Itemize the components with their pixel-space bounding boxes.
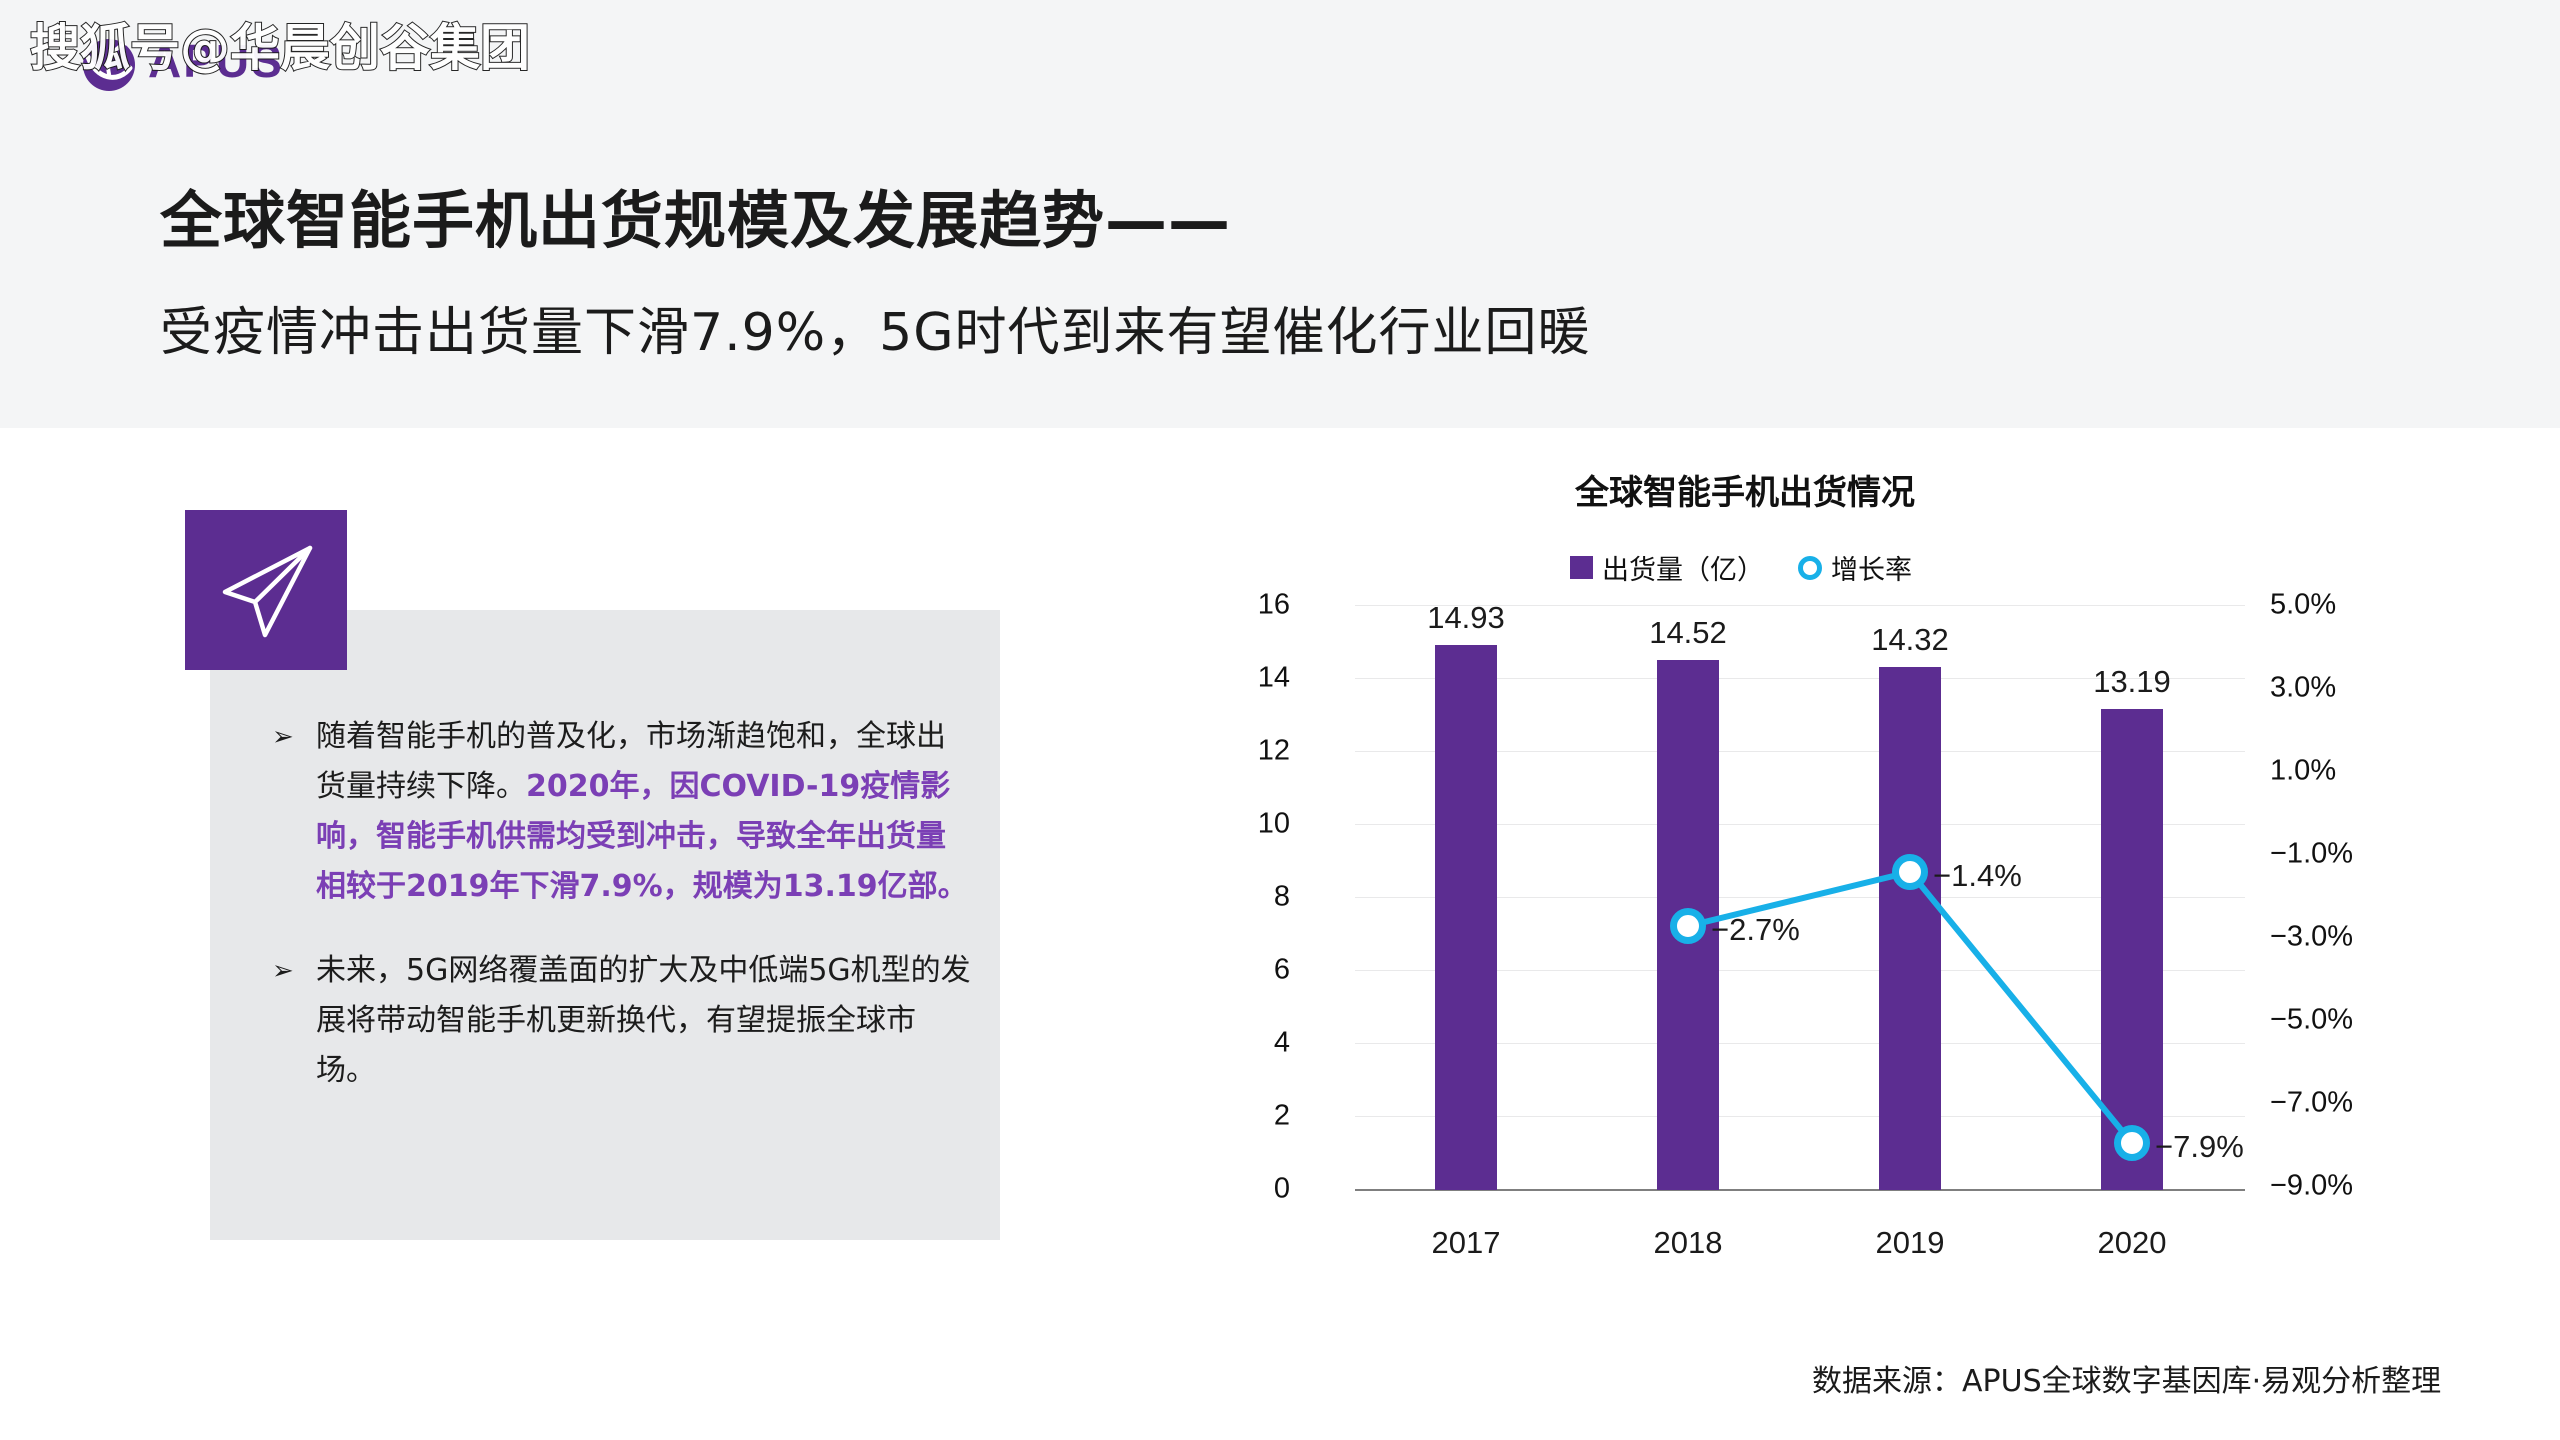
- list-item: ➢ 未来，5G网络覆盖面的扩大及中低端5G机型的发展将带动智能手机更新换代，有望…: [272, 946, 972, 1096]
- y-axis-tick: 2: [1200, 1100, 1290, 1133]
- line-value-label: −1.4%: [1933, 858, 2022, 894]
- y2-axis-tick: −9.0%: [2270, 1170, 2410, 1203]
- bullet-list: ➢ 随着智能手机的普及化，市场渐趋饱和，全球出货量持续下降。2020年，因COV…: [272, 712, 972, 1130]
- y-axis-tick: 16: [1200, 589, 1290, 622]
- line-marker-2020: [2114, 1125, 2150, 1161]
- y2-axis-tick: −7.0%: [2270, 1087, 2410, 1120]
- data-source-note: 数据来源：APUS全球数字基因库·易观分析整理: [1812, 1356, 2441, 1400]
- y2-axis-tick: −1.0%: [2270, 838, 2410, 871]
- page-title: 全球智能手机出货规模及发展趋势——: [160, 170, 1231, 260]
- y-axis-tick: 8: [1200, 881, 1290, 914]
- chart-title: 全球智能手机出货情况: [1575, 465, 1915, 514]
- x-axis-label-2018: 2018: [1608, 1225, 1768, 1261]
- line-value-label: −7.9%: [2155, 1129, 2244, 1165]
- line-value-label: −2.7%: [1711, 912, 1800, 948]
- line-marker-2019: [1892, 854, 1928, 890]
- bullet-text-plain: 未来，5G网络覆盖面的扩大及中低端5G机型的发展将带动智能手机更新换代，有望提振…: [316, 953, 971, 1088]
- y2-axis-tick: 3.0%: [2270, 672, 2410, 705]
- growth-line: [1355, 605, 2245, 1190]
- y-axis-tick: 0: [1200, 1173, 1290, 1206]
- line-marker-2018: [1670, 908, 1706, 944]
- paper-plane-tile: [185, 510, 347, 670]
- list-item: ➢ 随着智能手机的普及化，市场渐趋饱和，全球出货量持续下降。2020年，因COV…: [272, 712, 972, 912]
- legend-circle-swatch-icon: [1798, 556, 1822, 580]
- y-axis-tick: 14: [1200, 662, 1290, 695]
- x-axis-label-2019: 2019: [1830, 1225, 1990, 1261]
- y-axis-tick: 10: [1200, 808, 1290, 841]
- y2-axis-tick: −3.0%: [2270, 921, 2410, 954]
- y2-axis-tick: −5.0%: [2270, 1004, 2410, 1037]
- apus-logo-text: APUS: [148, 34, 284, 88]
- bullet-arrow-icon: ➢: [272, 946, 294, 996]
- y2-axis-tick: 1.0%: [2270, 755, 2410, 788]
- apus-circle-swoosh-icon: [78, 32, 140, 94]
- chart-area: 16 14 12 10 8 6 4 2 0 5.0% 3.0% 1.0% −1.…: [1140, 580, 2430, 1220]
- bullet-arrow-icon: ➢: [272, 712, 294, 762]
- y2-axis-tick: 5.0%: [2270, 589, 2410, 622]
- y-axis-tick: 4: [1200, 1027, 1290, 1060]
- apus-logo: APUS: [78, 28, 378, 98]
- y-axis-tick: 12: [1200, 735, 1290, 768]
- chart-plot: 14.93 14.52 14.32 13.19 −2.7% −1.4% −7.9…: [1355, 605, 2245, 1190]
- x-axis-label-2020: 2020: [2052, 1225, 2212, 1261]
- legend-bar-swatch-icon: [1570, 556, 1593, 579]
- y-axis-tick: 6: [1200, 954, 1290, 987]
- x-axis-label-2017: 2017: [1386, 1225, 1546, 1261]
- page-subtitle: 受疫情冲击出货量下滑7.9%，5G时代到来有望催化行业回暖: [160, 290, 1591, 365]
